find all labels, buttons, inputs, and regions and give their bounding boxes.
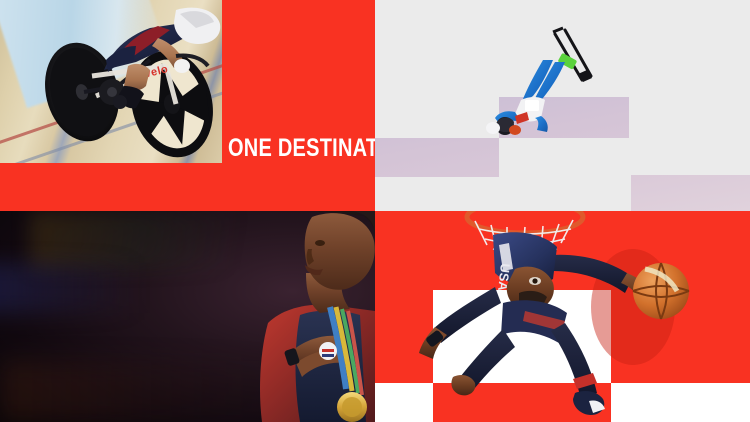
cyclist-panel: cervelo [0,0,375,211]
aerial-skier-figure [375,0,750,211]
medalist-athlete-figure [0,211,375,422]
aerial-skier-panel [375,0,750,211]
boxer-panel: IMPOSSIBLE [0,211,375,422]
basketball-panel: USA [375,211,750,422]
campaign-collage: cervelo [0,0,750,422]
headline-one-destination: ONE DESTINATION [228,136,375,161]
basketball-dunk-figure: USA [375,211,750,422]
red-stair-overlay-cyclist [0,0,375,211]
